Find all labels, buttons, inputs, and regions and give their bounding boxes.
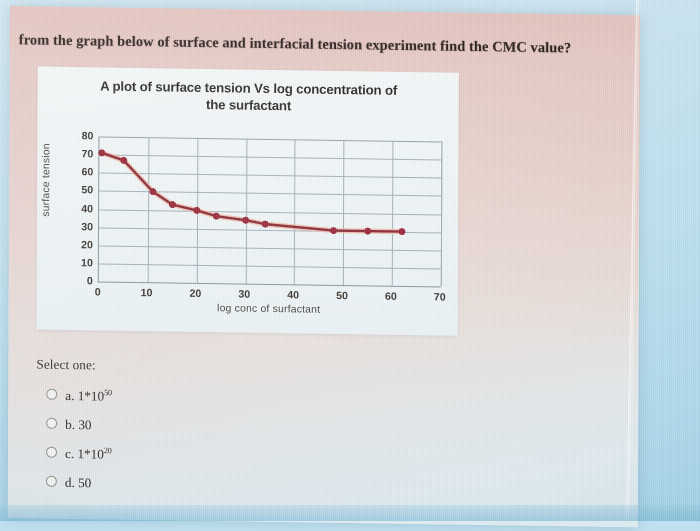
data-point-marker [120,157,127,164]
y-axis-title: surface tension [41,143,52,217]
data-point-marker [98,149,105,156]
y-tick-label: 30 [67,221,93,233]
data-point-marker [262,221,269,228]
radio-button-c[interactable] [46,447,57,458]
question-text: from the graph below of surface and inte… [19,32,629,58]
y-tick-label: 70 [67,148,93,160]
data-point-marker [149,188,156,195]
plot-area [98,136,442,287]
x-tick-label: 40 [278,289,308,301]
y-tick-label: 60 [67,166,93,178]
radio-button-b[interactable] [46,418,57,429]
chart-title: A plot of surface tension Vs log concent… [68,77,430,116]
y-tick-label: 80 [67,130,93,142]
answer-option-label: a. 1*1050 [65,388,111,404]
y-tick-label: 40 [67,202,93,214]
chart-title-line-2: the surfactant [206,97,291,113]
x-axis-title: log conc of surfactant [98,301,440,317]
series-line-halo [101,153,402,232]
radio-button-a[interactable] [46,389,57,400]
answer-option-d[interactable]: d. 50 [46,474,91,492]
y-tick-label: 50 [67,184,93,196]
answer-option-b[interactable]: b. 30 [46,416,91,434]
chart-panel: A plot of surface tension Vs log concent… [37,67,459,336]
answer-option-label: d. 50 [65,475,91,490]
answer-option-label: c. 1*1020 [65,446,111,462]
y-axis-tick-labels: 01020304050607080 [38,67,459,73]
x-tick-label: 20 [180,288,210,300]
x-tick-label: 30 [229,288,259,300]
series-line-surface-tension [99,136,442,286]
x-tick-label: 10 [132,287,162,299]
answer-option-exponent: 50 [104,388,112,397]
quiz-content: from the graph below of surface and inte… [0,0,700,531]
data-point-marker [242,217,249,224]
screen-bottom-band [0,505,700,521]
data-point-marker [193,207,200,214]
x-tick-label: 60 [376,291,406,303]
x-tick-label: 50 [327,290,357,302]
answer-option-label: b. 30 [65,417,91,432]
answer-option-a[interactable]: a. 1*1050 [46,387,111,405]
select-one-prompt: Select one: [36,357,95,374]
data-point-marker [169,201,176,208]
y-tick-label: 20 [67,239,93,251]
x-tick-label: 0 [83,286,113,298]
radio-button-d[interactable] [46,476,57,487]
answer-option-exponent: 20 [104,446,112,455]
chart-title-line-1: A plot of surface tension Vs log concent… [100,78,397,97]
x-tick-label: 70 [425,291,455,303]
answer-option-c[interactable]: c. 1*1020 [46,445,111,463]
y-tick-label: 10 [67,257,93,269]
data-point-marker [213,213,220,220]
x-axis-tick-labels: 010203040506070 [38,67,459,73]
